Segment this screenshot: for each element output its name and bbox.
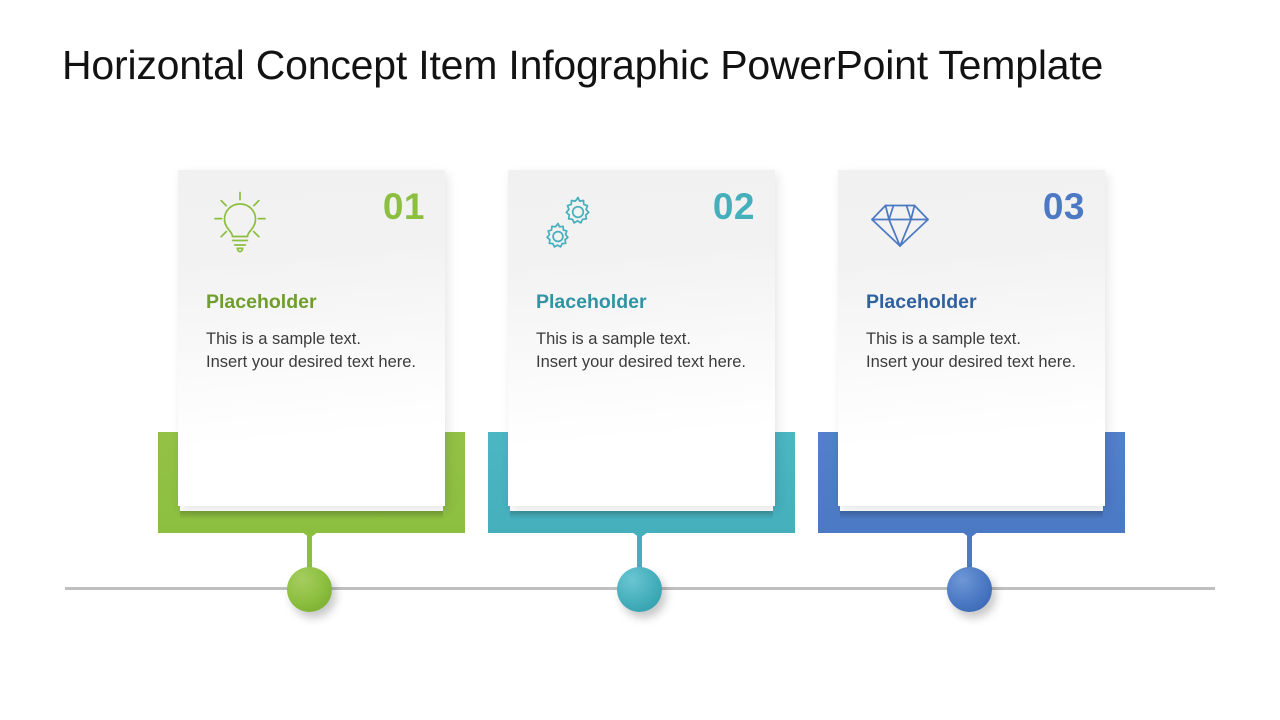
info-card-2[interactable]: 02 Placeholder This is a sample text. In…: [508, 170, 775, 506]
card-body-3: Placeholder This is a sample text. Inser…: [866, 292, 1081, 374]
card-description-2: This is a sample text. Insert your desir…: [536, 328, 751, 374]
card-description-1: This is a sample text. Insert your desir…: [206, 328, 421, 374]
card-header-2: 02: [508, 170, 775, 274]
lightbulb-icon: [204, 190, 276, 256]
timeline-node-2[interactable]: [617, 567, 662, 612]
diamond-icon: [864, 190, 936, 256]
card-heading-3: Placeholder: [866, 292, 1081, 313]
item-number-1: 01: [383, 188, 425, 225]
card-description-3: This is a sample text. Insert your desir…: [866, 328, 1081, 374]
card-heading-2: Placeholder: [536, 292, 751, 313]
gears-icon: [534, 190, 606, 256]
item-number-3: 03: [1043, 188, 1085, 225]
info-card-1[interactable]: 01 Placeholder This is a sample text. In…: [178, 170, 445, 506]
item-number-2: 02: [713, 188, 755, 225]
card-header-3: 03: [838, 170, 1105, 274]
card-body-1: Placeholder This is a sample text. Inser…: [206, 292, 421, 374]
concept-item-3[interactable]: 03 Placeholder This is a sample text. In…: [818, 0, 1218, 720]
card-header-1: 01: [178, 170, 445, 274]
slide-canvas: Horizontal Concept Item Infographic Powe…: [0, 0, 1280, 720]
timeline-node-3[interactable]: [947, 567, 992, 612]
card-heading-1: Placeholder: [206, 292, 421, 313]
card-body-2: Placeholder This is a sample text. Inser…: [536, 292, 751, 374]
timeline-node-1[interactable]: [287, 567, 332, 612]
info-card-3[interactable]: 03 Placeholder This is a sample text. In…: [838, 170, 1105, 506]
